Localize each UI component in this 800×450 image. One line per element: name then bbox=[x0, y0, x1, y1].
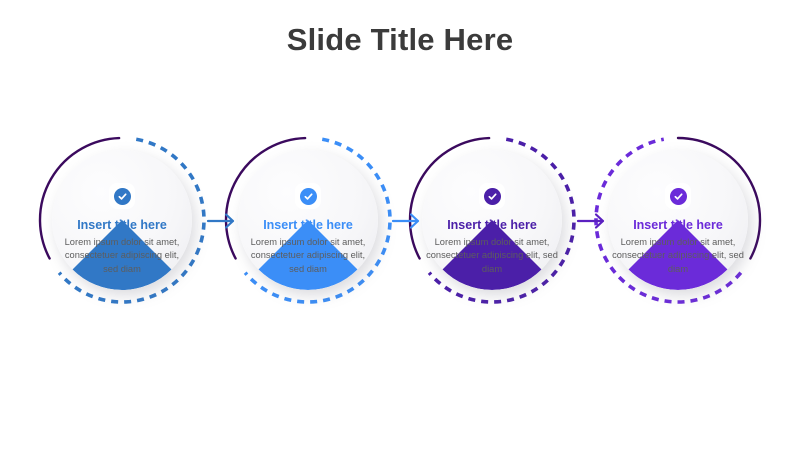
step-title: Insert title here bbox=[223, 218, 393, 232]
step-description: Lorem ipsum dolor sit amet, consectetuer… bbox=[60, 236, 184, 276]
process-step-3[interactable]: Insert title hereLorem ipsum dolor sit a… bbox=[397, 128, 587, 323]
arrow-right-icon bbox=[206, 210, 240, 232]
process-step-4[interactable]: Insert title hereLorem ipsum dolor sit a… bbox=[583, 128, 773, 323]
step-description: Lorem ipsum dolor sit amet, consectetuer… bbox=[246, 236, 370, 276]
step-description: Lorem ipsum dolor sit amet, consectetuer… bbox=[423, 236, 561, 276]
check-icon bbox=[114, 188, 131, 205]
step-icon-badge bbox=[665, 183, 691, 209]
arrow-right-icon bbox=[576, 210, 610, 232]
step-title: Insert title here bbox=[407, 218, 577, 232]
step-description: Lorem ipsum dolor sit amet, consectetuer… bbox=[609, 236, 747, 276]
page-title: Slide Title Here bbox=[0, 22, 800, 58]
process-step-2[interactable]: Insert title hereLorem ipsum dolor sit a… bbox=[213, 128, 403, 323]
step-icon-badge bbox=[109, 183, 135, 209]
check-icon bbox=[300, 188, 317, 205]
step-title: Insert title here bbox=[37, 218, 207, 232]
process-step-1[interactable]: Insert title hereLorem ipsum dolor sit a… bbox=[27, 128, 217, 323]
arrow-right-icon bbox=[391, 210, 425, 232]
step-icon-badge bbox=[479, 183, 505, 209]
check-icon bbox=[484, 188, 501, 205]
check-icon bbox=[670, 188, 687, 205]
step-icon-badge bbox=[295, 183, 321, 209]
process-steps: Insert title hereLorem ipsum dolor sit a… bbox=[0, 128, 800, 328]
step-title: Insert title here bbox=[593, 218, 763, 232]
